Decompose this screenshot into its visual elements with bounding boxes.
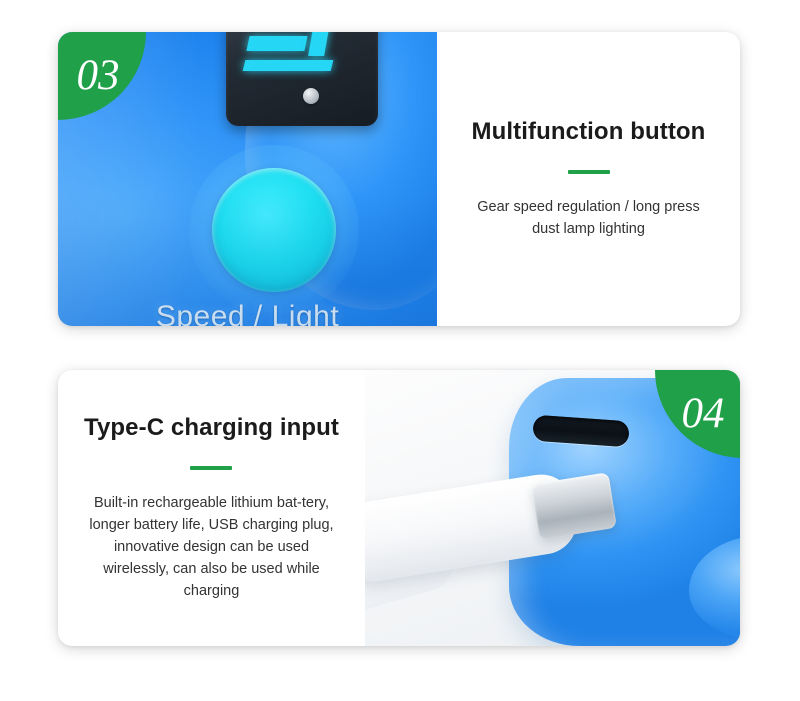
feature-description: Gear speed regulation / long press dust … [463,196,714,240]
display-bezel [226,32,378,126]
feature-title: Multifunction button [472,118,706,146]
product-photo-multifunction-button: Speed / Light 03 [58,32,437,326]
display-segment-icon [243,60,334,71]
title-divider [190,466,232,470]
display-segment-icon [246,36,307,51]
feature-showcase: Speed / Light 03 Multifunction button Ge… [0,0,800,701]
feature-title: Type-C charging input [84,414,339,442]
feature-text-04: Type-C charging input Built-in rechargea… [58,370,365,646]
feature-card-03: Speed / Light 03 Multifunction button Ge… [58,32,740,326]
screw-dot-icon [303,88,319,104]
display-segment-icon [308,32,332,56]
title-divider [568,170,610,174]
photo-shadow [58,191,437,326]
product-photo-type-c-charging: 04 [365,370,740,646]
feature-card-04: Type-C charging input Built-in rechargea… [58,370,740,646]
feature-text-03: Multifunction button Gear speed regulati… [437,32,740,326]
feature-description: Built-in rechargeable lithium bat-tery, … [87,492,335,602]
